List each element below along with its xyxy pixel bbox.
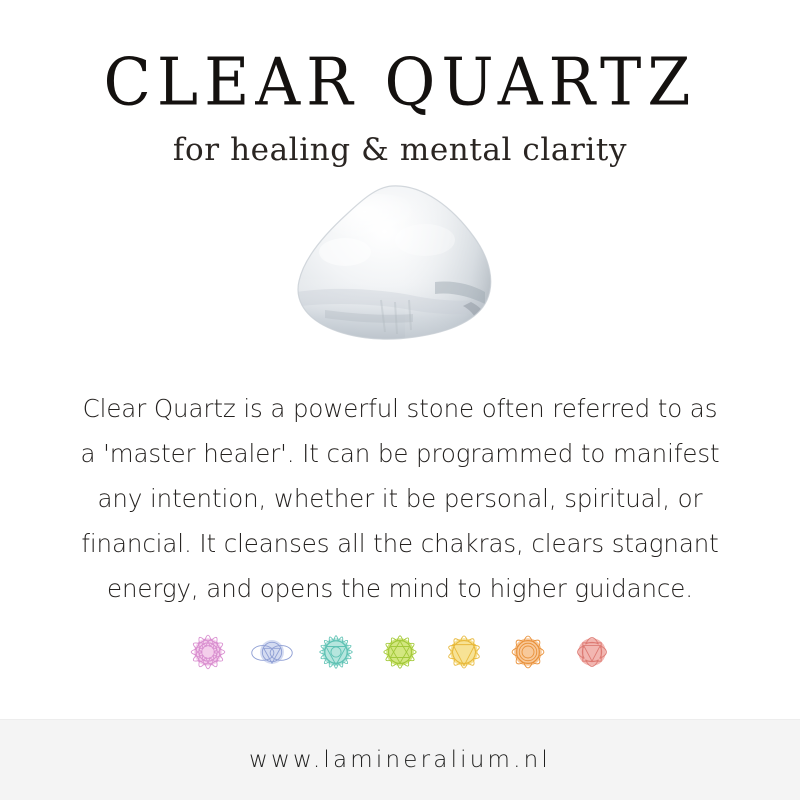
crown-chakra-icon [185, 629, 231, 675]
clear-quartz-stone-image [285, 182, 515, 352]
product-description: Clear Quartz is a powerful stone often r… [75, 386, 725, 611]
third-eye-chakra-icon [249, 629, 295, 675]
description-line-3: any intention, whether it be personal, s… [75, 476, 725, 521]
solar-plexus-chakra-icon [441, 629, 487, 675]
page-subtitle: for healing & mental clarity [0, 130, 800, 170]
throat-chakra-icon [313, 629, 359, 675]
root-chakra-icon [569, 629, 615, 675]
website-url[interactable]: www.lamineralium.nl [249, 747, 551, 773]
footer-bar: www.lamineralium.nl [0, 719, 800, 800]
quartz-stone-icon [285, 182, 515, 352]
page-title: CLEAR QUARTZ [0, 44, 800, 120]
heart-chakra-icon [377, 629, 423, 675]
description-line-5: energy, and opens the mind to higher gui… [75, 566, 725, 611]
product-image-area [0, 182, 800, 372]
header: CLEAR QUARTZ for healing & mental clarit… [0, 0, 800, 170]
description-line-4: financial. It cleanses all the chakras, … [75, 521, 725, 566]
layout-spacer [0, 675, 800, 719]
sacral-chakra-icon [505, 629, 551, 675]
description-line-1: Clear Quartz is a powerful stone often r… [75, 386, 725, 431]
product-info-card: CLEAR QUARTZ for healing & mental clarit… [0, 0, 800, 800]
chakra-symbol-row [185, 629, 615, 675]
description-line-2: a 'master healer'. It can be programmed … [75, 431, 725, 476]
